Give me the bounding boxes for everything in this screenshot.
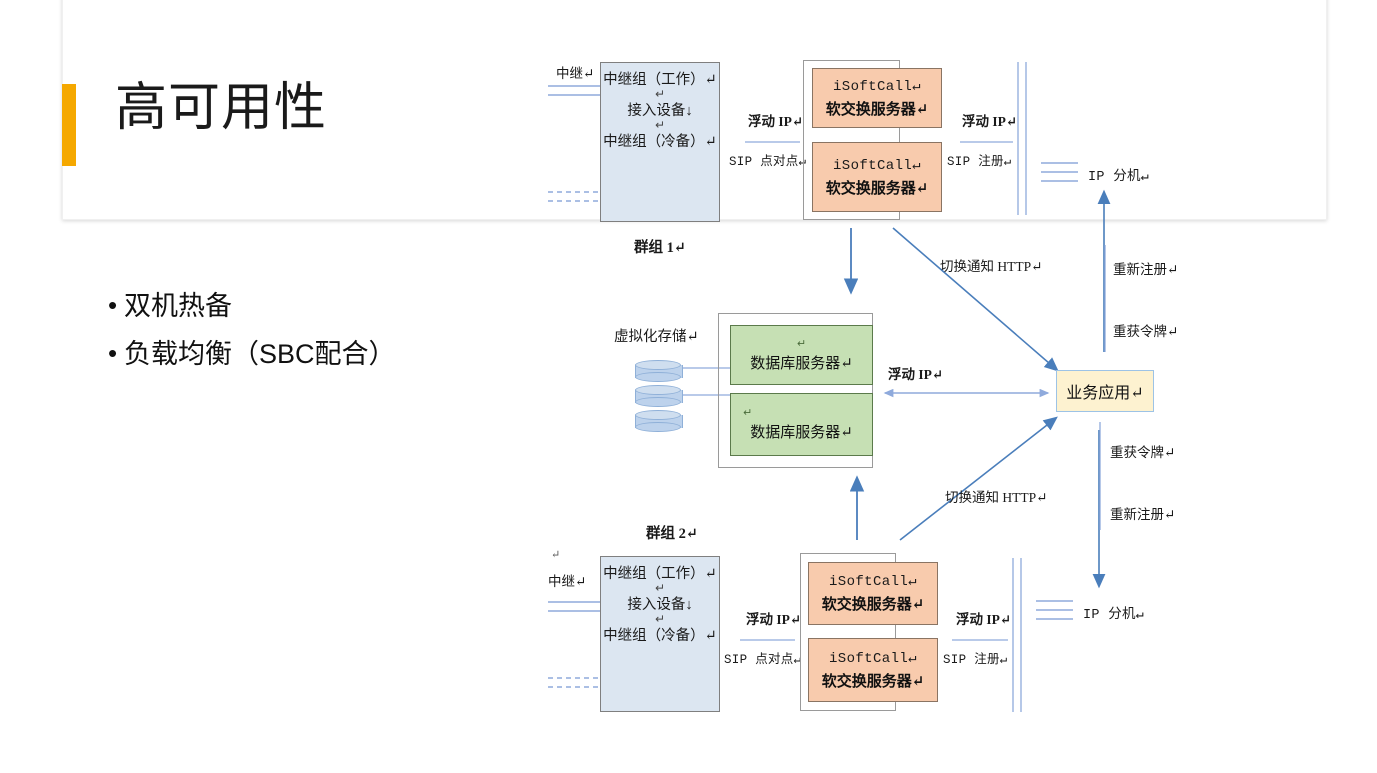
- storage-disk-icon: [635, 360, 681, 382]
- storage-disk-icon: [635, 410, 681, 432]
- softswitch-role: 软交换服务器↵: [826, 98, 929, 119]
- paragraph-mark-icon: ↵: [655, 613, 665, 629]
- float-ip-label-db: 浮动 IP↵: [888, 363, 943, 383]
- switch-notify-label-2: 切换通知 HTTP↵: [945, 486, 1047, 506]
- database-server-2: ↵ 数据库服务器↵: [730, 393, 873, 456]
- reregister-label-top: 重新注册↵: [1113, 258, 1178, 278]
- float-ip-label-right-2: 浮动 IP↵: [956, 608, 1011, 628]
- switch-notify-label-1: 切换通知 HTTP↵: [940, 255, 1042, 275]
- database-server-1: ↵ 数据库服务器↵: [730, 325, 873, 385]
- access-device-label: 接入设备↓: [627, 104, 692, 119]
- softswitch-server-2b: iSoftCall↵ 软交换服务器↵: [808, 638, 938, 702]
- access-device-label: 接入设备↓: [627, 598, 692, 613]
- softswitch-server-2a: iSoftCall↵ 软交换服务器↵: [808, 562, 938, 625]
- paragraph-mark-icon: ↵: [743, 407, 752, 419]
- float-ip-label-left-1: 浮动 IP↵: [748, 110, 803, 130]
- trunk-standby-label: 中继组（冷备）↵: [603, 135, 717, 150]
- softswitch-server-1a: iSoftCall↵ 软交换服务器↵: [812, 68, 942, 128]
- trunk-group-box-1: 中继组（工作）↵ ↵ 接入设备↓ ↵ 中继组（冷备）↵: [600, 62, 720, 222]
- ip-extension-label-2: IP 分机↵: [1083, 602, 1144, 623]
- trunk-label-2: 中继↵: [548, 570, 586, 590]
- group-caption-1: 群组 1↵: [634, 236, 686, 257]
- softswitch-name: iSoftCall↵: [833, 157, 921, 174]
- virtual-storage-label: 虚拟化存储↵: [614, 325, 699, 346]
- trunk-label-1: 中继↵: [556, 62, 594, 82]
- softswitch-name: iSoftCall↵: [829, 573, 917, 590]
- business-app-box: 业务应用↵: [1056, 370, 1154, 412]
- sip-register-label-2: SIP 注册↵: [943, 648, 1008, 667]
- ip-extension-label-1: IP 分机↵: [1088, 164, 1149, 185]
- float-ip-text: 浮动 IP↵: [748, 114, 803, 129]
- paragraph-mark-icon: ↵: [797, 338, 806, 350]
- paragraph-mark-icon: ↵: [655, 88, 665, 104]
- retoken-label-top: 重获令牌↵: [1113, 320, 1178, 340]
- float-ip-label-left-2: 浮动 IP↵: [746, 608, 801, 628]
- softswitch-name: iSoftCall↵: [829, 650, 917, 667]
- paragraph-mark-icon: ↵: [655, 119, 665, 135]
- group-caption-2: 群组 2↵: [646, 522, 698, 543]
- sip-register-label-1: SIP 注册↵: [947, 150, 1012, 169]
- softswitch-role: 软交换服务器↵: [822, 670, 925, 691]
- database-server-label: 数据库服务器↵: [750, 352, 853, 373]
- database-server-label: 数据库服务器↵: [750, 421, 853, 442]
- paragraph-mark-icon: ↵: [655, 582, 665, 598]
- float-ip-text: 浮动 IP↵: [746, 612, 801, 627]
- business-app-label: 业务应用↵: [1066, 379, 1143, 403]
- slide-canvas: 高可用性 • 双机热备 • 负载均衡（SBC配合）: [0, 0, 1377, 773]
- float-ip-text: 浮动 IP↵: [962, 114, 1017, 129]
- paragraph-mark-icon: ↵: [551, 548, 560, 561]
- sip-p2p-label-1: SIP 点对点↵: [729, 150, 806, 169]
- sip-p2p-label-2: SIP 点对点↵: [724, 648, 801, 667]
- softswitch-server-1b: iSoftCall↵ 软交换服务器↵: [812, 142, 942, 212]
- softswitch-role: 软交换服务器↵: [826, 177, 929, 198]
- softswitch-name: iSoftCall↵: [833, 78, 921, 95]
- architecture-diagram: 中继组（工作）↵ ↵ 接入设备↓ ↵ 中继组（冷备）↵ 中继↵ 群组 1↵ 浮动…: [0, 0, 1377, 773]
- reregister-label-bottom: 重新注册↵: [1110, 503, 1175, 523]
- float-ip-text: 浮动 IP↵: [888, 367, 943, 382]
- trunk-working-label: 中继组（工作）↵: [603, 567, 717, 582]
- softswitch-role: 软交换服务器↵: [822, 593, 925, 614]
- retoken-label-bottom: 重获令牌↵: [1110, 441, 1175, 461]
- float-ip-label-right-1: 浮动 IP↵: [962, 110, 1017, 130]
- trunk-working-label: 中继组（工作）↵: [603, 73, 717, 88]
- float-ip-text: 浮动 IP↵: [956, 612, 1011, 627]
- storage-disk-icon: [635, 385, 681, 407]
- trunk-standby-label: 中继组（冷备）↵: [603, 629, 717, 644]
- trunk-group-box-2: 中继组（工作）↵ ↵ 接入设备↓ ↵ 中继组（冷备）↵: [600, 556, 720, 712]
